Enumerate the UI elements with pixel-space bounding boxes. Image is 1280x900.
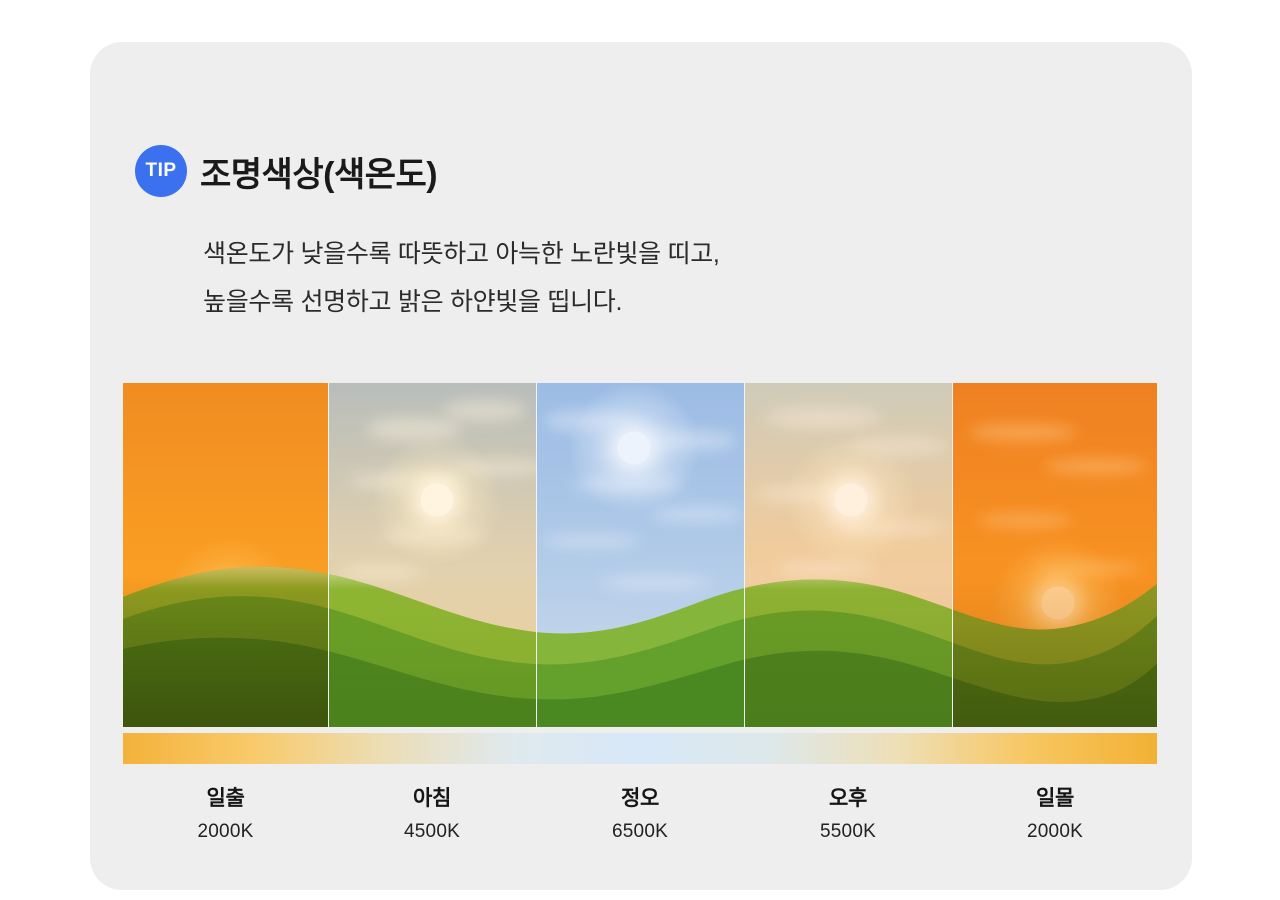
panel-hills	[952, 383, 1157, 727]
panel-hills	[536, 383, 744, 727]
color-temperature-labels: 일출2000K아침4500K정오6500K오후5500K일몰2000K	[123, 782, 1157, 843]
label-kelvin-value: 2000K	[952, 821, 1158, 843]
color-temperature-label-2: 아침4500K	[328, 782, 536, 843]
color-temperature-gradient-bar	[123, 733, 1157, 764]
color-temperature-panel-4	[744, 383, 952, 727]
tip-description: 색온도가 낮을수록 따뜻하고 아늑한 노란빛을 띠고, 높을수록 선명하고 밝은…	[203, 230, 1083, 326]
color-temperature-label-3: 정오6500K	[536, 782, 744, 843]
color-temperature-panel-1	[123, 383, 328, 727]
panel-hills	[328, 383, 536, 727]
color-temperature-label-1: 일출2000K	[123, 782, 328, 843]
tip-description-line-1: 색온도가 낮을수록 따뜻하고 아늑한 노란빛을 띠고,	[203, 230, 1083, 278]
panel-hills	[744, 383, 952, 727]
label-kelvin-value: 5500K	[744, 821, 952, 843]
label-kelvin-value: 4500K	[328, 821, 536, 843]
label-name: 정오	[536, 782, 744, 812]
color-temperature-label-5: 일몰2000K	[952, 782, 1158, 843]
page-title: 조명색상(색온도)	[200, 147, 437, 196]
label-name: 아침	[328, 782, 536, 812]
color-temperature-panel-3	[536, 383, 744, 727]
label-kelvin-value: 2000K	[123, 821, 328, 843]
tip-card: TIP 조명색상(색온도) 색온도가 낮을수록 따뜻하고 아늑한 노란빛을 띠고…	[90, 42, 1192, 890]
panel-hills	[123, 383, 328, 727]
label-name: 일출	[123, 782, 328, 812]
label-name: 일몰	[952, 782, 1158, 812]
label-name: 오후	[744, 782, 952, 812]
tip-description-line-2: 높을수록 선명하고 밝은 하얀빛을 띱니다.	[203, 278, 1083, 326]
color-temperature-image-strip	[123, 383, 1157, 727]
color-temperature-label-4: 오후5500K	[744, 782, 952, 843]
tip-badge-icon: TIP	[135, 145, 187, 197]
color-temperature-panel-2	[328, 383, 536, 727]
tip-header: TIP 조명색상(색온도)	[135, 145, 437, 197]
label-kelvin-value: 6500K	[536, 821, 744, 843]
color-temperature-panel-5	[952, 383, 1157, 727]
